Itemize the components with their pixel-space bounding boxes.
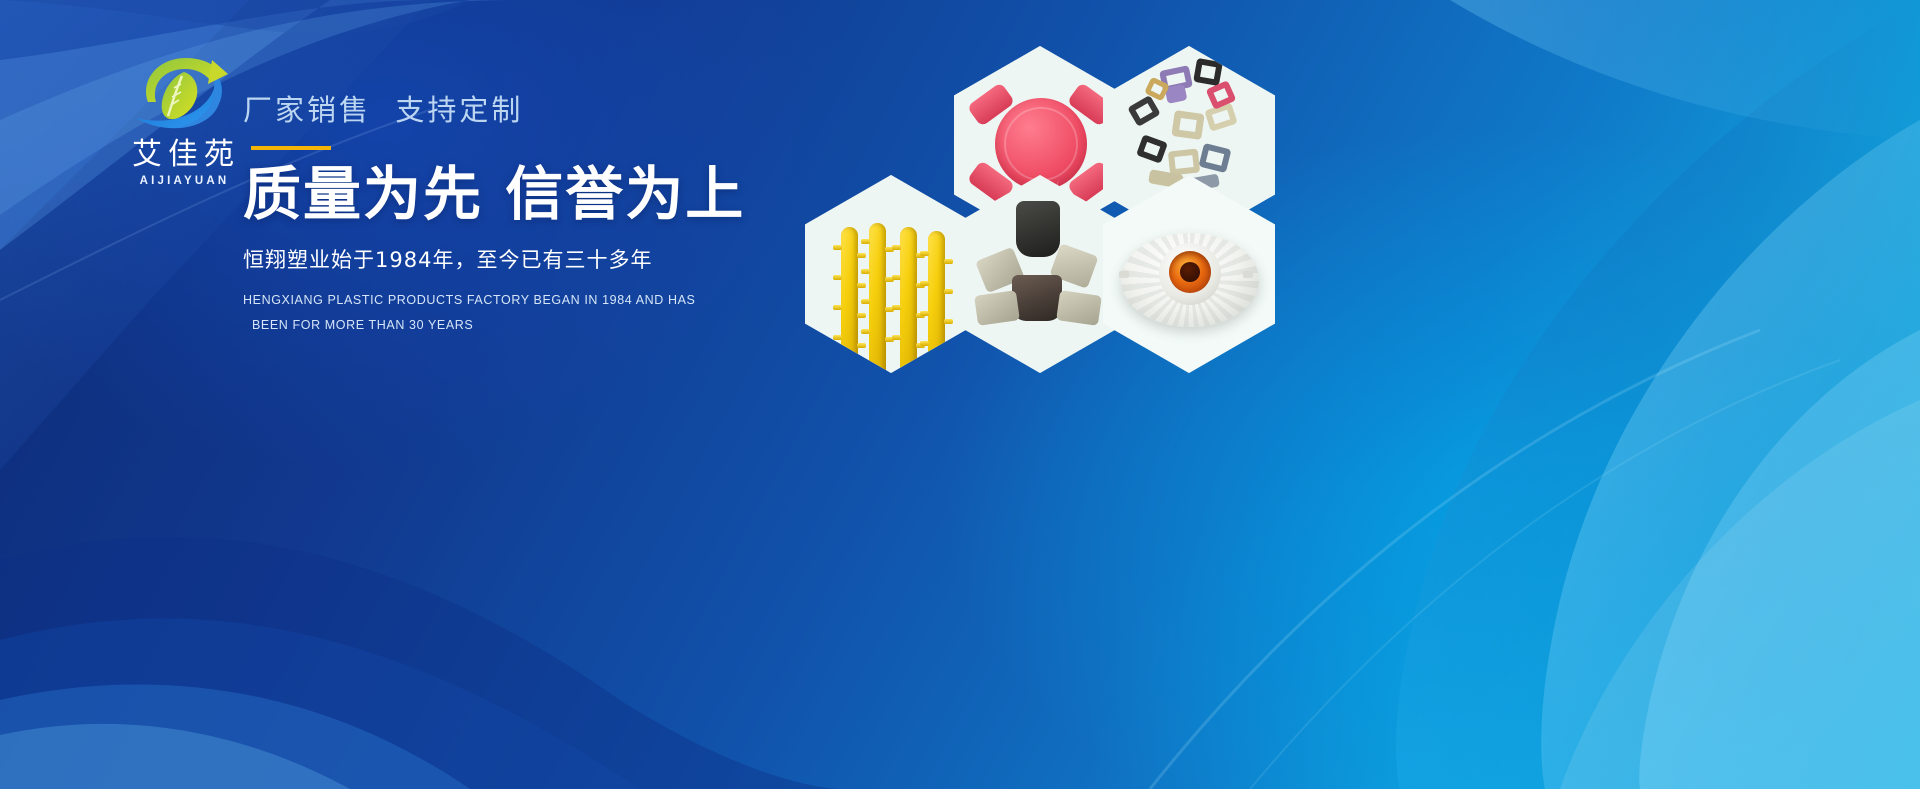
- brand-name-cn: 艾佳苑: [126, 140, 240, 170]
- headline-text: 质量为先 信誉为上: [243, 162, 803, 227]
- subtitle-english-line1: HENGXIANG PLASTIC PRODUCTS FACTORY BEGAN…: [243, 288, 803, 313]
- kicker-text: 厂家销售 支持定制: [243, 92, 803, 128]
- brand-name-en: AIJIAYUAN: [137, 175, 230, 187]
- headline-block: 厂家销售 支持定制 质量为先 信誉为上 恒翔塑业始于1984年，至今已有三十多年…: [243, 92, 803, 338]
- product-hex-yellow-expansion-anchors[interactable]: [805, 175, 977, 373]
- yellow-expansion-anchors-photo: [805, 175, 977, 373]
- gold-divider: [251, 146, 331, 150]
- banner-content: 艾佳苑 AIJIAYUAN 厂家销售 支持定制 质量为先 信誉为上 恒翔塑业始于…: [0, 0, 820, 789]
- product-hexagon-cluster: [805, 46, 1305, 376]
- subtitle-chinese: 恒翔塑业始于1984年，至今已有三十多年: [243, 247, 803, 274]
- subtitle-english-line2: BEEN FOR MORE THAN 30 YEARS: [243, 313, 803, 338]
- subtitle-english: HENGXIANG PLASTIC PRODUCTS FACTORY BEGAN…: [243, 288, 803, 338]
- promo-banner: 艾佳苑 AIJIAYUAN 厂家销售 支持定制 质量为先 信誉为上 恒翔塑业始于…: [0, 0, 1920, 789]
- leaf-arrow-circle-logo-icon: [124, 46, 242, 138]
